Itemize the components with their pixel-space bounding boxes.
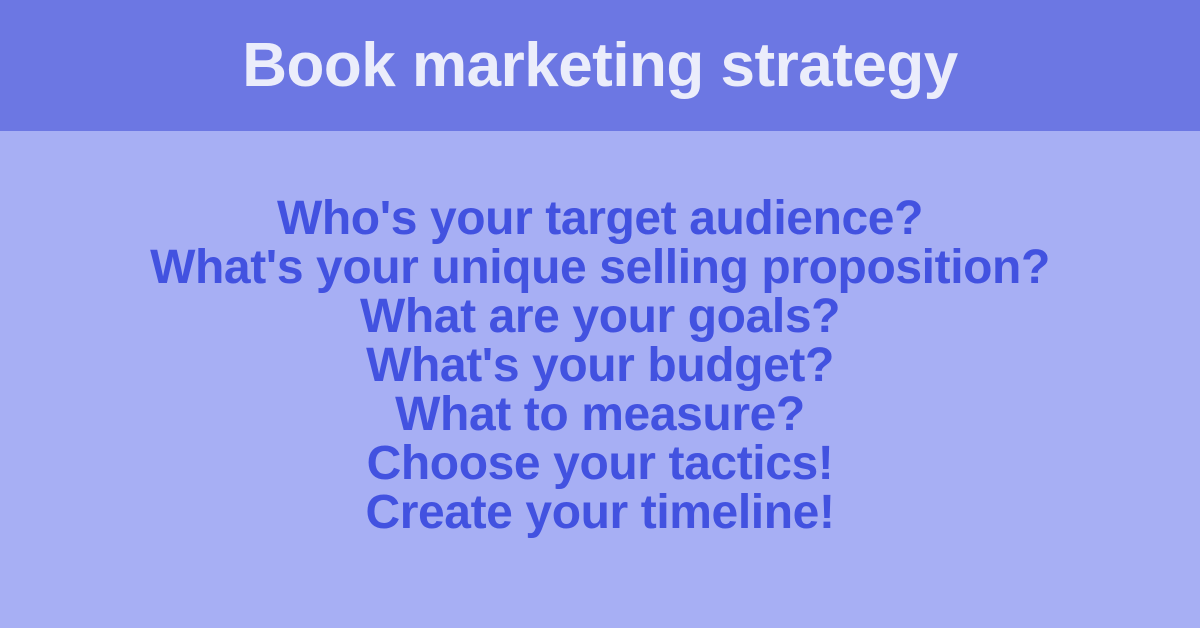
header-band: Book marketing strategy xyxy=(0,0,1200,131)
list-item: Create your timeline! xyxy=(0,488,1200,537)
list-item: What's your budget? xyxy=(0,341,1200,390)
strategy-question-list: Who's your target audience? What's your … xyxy=(0,131,1200,537)
page-title: Book marketing strategy xyxy=(218,35,982,97)
list-item: Who's your target audience? xyxy=(0,194,1200,243)
list-item: What's your unique selling proposition? xyxy=(0,243,1200,292)
book-marketing-strategy-card: Book marketing strategy Who's your targe… xyxy=(0,0,1200,628)
body-area: Who's your target audience? What's your … xyxy=(0,131,1200,628)
list-item: What are your goals? xyxy=(0,292,1200,341)
list-item: Choose your tactics! xyxy=(0,439,1200,488)
list-item: What to measure? xyxy=(0,390,1200,439)
